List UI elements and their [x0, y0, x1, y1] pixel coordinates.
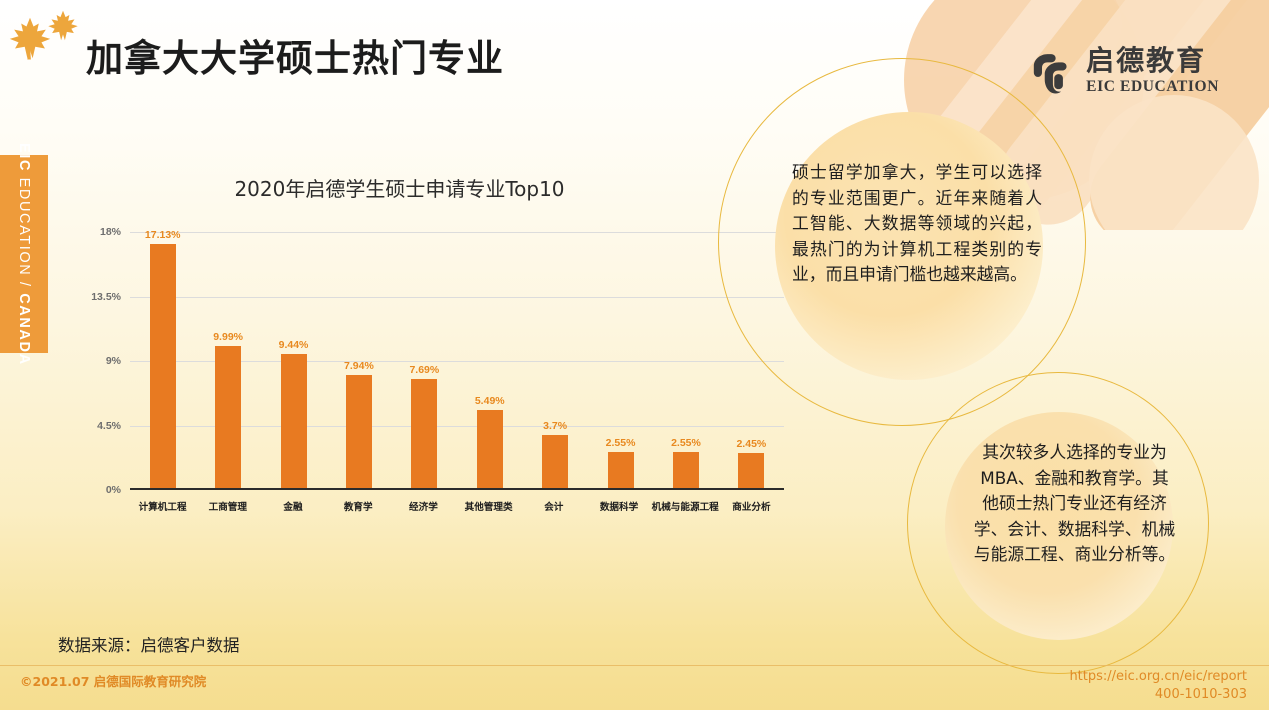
- chart-category-label: 工商管理: [195, 492, 260, 522]
- chart-category-label: 金融: [260, 492, 325, 522]
- chart-bar-value-label: 7.94%: [344, 360, 374, 372]
- footer-divider: [0, 665, 1269, 666]
- chart-bars: 17.13%9.99%9.44%7.94%7.69%5.49%3.7%2.55%…: [130, 232, 784, 488]
- chart-x-axis: [130, 488, 784, 490]
- copyright-note: ©2021.07 启德国际教育研究院: [20, 671, 206, 690]
- chart-y-tick-label: 13.5%: [91, 291, 121, 303]
- chart-bar[interactable]: 7.69%: [411, 379, 437, 488]
- chart-category-label: 会计: [521, 492, 586, 522]
- chart-category-label: 经济学: [391, 492, 456, 522]
- chart-bar[interactable]: 2.45%: [738, 453, 764, 488]
- chart-bar[interactable]: 3.7%: [542, 435, 568, 488]
- chart-bar-cell: 7.69%: [392, 232, 457, 488]
- sidebar-label-lead: EIC: [16, 143, 32, 172]
- chart-bar-cell: 2.55%: [588, 232, 653, 488]
- chart-bar-value-label: 2.55%: [671, 437, 701, 449]
- chart-x-tick-labels: 计算机工程工商管理金融教育学经济学其他管理类会计数据科学机械与能源工程商业分析: [130, 492, 784, 522]
- maple-leaf-icon: [8, 14, 52, 62]
- chart-category-label: 教育学: [326, 492, 391, 522]
- footer-phone: 400-1010-303: [1069, 686, 1247, 704]
- eic-logo-mark-icon: [1029, 46, 1075, 96]
- chart-category-label: 数据科学: [586, 492, 651, 522]
- chart-bar[interactable]: 7.94%: [346, 375, 372, 488]
- chart-bar-cell: 9.99%: [195, 232, 260, 488]
- brand-logo: 启德教育 EIC EDUCATION: [1029, 46, 1219, 96]
- chart-bar-cell: 17.13%: [130, 232, 195, 488]
- chart-category-label: 计算机工程: [130, 492, 195, 522]
- chart-bar-value-label: 2.55%: [606, 437, 636, 449]
- bar-chart: 0%4.5%9%13.5%18% 17.13%9.99%9.44%7.94%7.…: [92, 222, 792, 522]
- chart-category-label: 其他管理类: [456, 492, 521, 522]
- chart-bar-cell: 7.94%: [326, 232, 391, 488]
- chart-category-label: 机械与能源工程: [652, 492, 719, 522]
- chart-gridline: 0%: [130, 490, 784, 491]
- data-source-note: 数据来源：启德客户数据: [58, 632, 240, 656]
- logo-text-en: EIC EDUCATION: [1086, 79, 1219, 95]
- chart-bar[interactable]: 17.13%: [150, 244, 176, 488]
- chart-y-tick-label: 4.5%: [97, 420, 121, 432]
- bubble-text-bottom: 其次较多人选择的专业为MBA、金融和教育学。其他硕士热门专业还有经济学、会计、数…: [972, 440, 1177, 568]
- chart-bar[interactable]: 2.55%: [608, 452, 634, 488]
- chart-bar-cell: 5.49%: [457, 232, 522, 488]
- chart-bar-cell: 2.55%: [653, 232, 718, 488]
- chart-y-tick-label: 18%: [100, 226, 121, 238]
- chart-bar-value-label: 17.13%: [145, 229, 181, 241]
- chart-bar[interactable]: 9.99%: [215, 346, 241, 488]
- logo-text-cn: 启德教育: [1086, 47, 1219, 75]
- maple-leaf-icon-small: [47, 8, 79, 43]
- chart-bar[interactable]: 9.44%: [281, 354, 307, 488]
- chart-bar-value-label: 3.7%: [543, 420, 567, 432]
- footer-contact: https://eic.org.cn/eic/report 400-1010-3…: [1069, 668, 1247, 703]
- bubble-text-top: 硕士留学加拿大，学生可以选择的专业范围更广。近年来随着人工智能、大数据等领域的兴…: [792, 160, 1042, 288]
- chart-y-tick-label: 9%: [106, 355, 121, 367]
- footer-url[interactable]: https://eic.org.cn/eic/report: [1069, 668, 1247, 686]
- page-title: 加拿大大学硕士热门专业: [86, 28, 504, 82]
- chart-bar-cell: 3.7%: [522, 232, 587, 488]
- chart-bar-value-label: 9.44%: [279, 339, 309, 351]
- chart-bar-value-label: 9.99%: [213, 331, 243, 343]
- chart-plot-area: 0%4.5%9%13.5%18% 17.13%9.99%9.44%7.94%7.…: [130, 232, 784, 490]
- chart-category-label: 商业分析: [719, 492, 784, 522]
- slide-canvas: 加拿大大学硕士热门专业 启德教育 EIC EDUCATION EIC EDUCA…: [0, 0, 1269, 710]
- chart-bar-cell: 9.44%: [261, 232, 326, 488]
- chart-bar-value-label: 2.45%: [736, 438, 766, 450]
- chart-bar-value-label: 5.49%: [475, 395, 505, 407]
- chart-bar-value-label: 7.69%: [409, 364, 439, 376]
- chart-bar[interactable]: 5.49%: [477, 410, 503, 488]
- sidebar-label-trail: CANADA: [16, 293, 32, 365]
- chart-y-tick-label: 0%: [106, 484, 121, 496]
- chart-bar[interactable]: 2.55%: [673, 452, 699, 488]
